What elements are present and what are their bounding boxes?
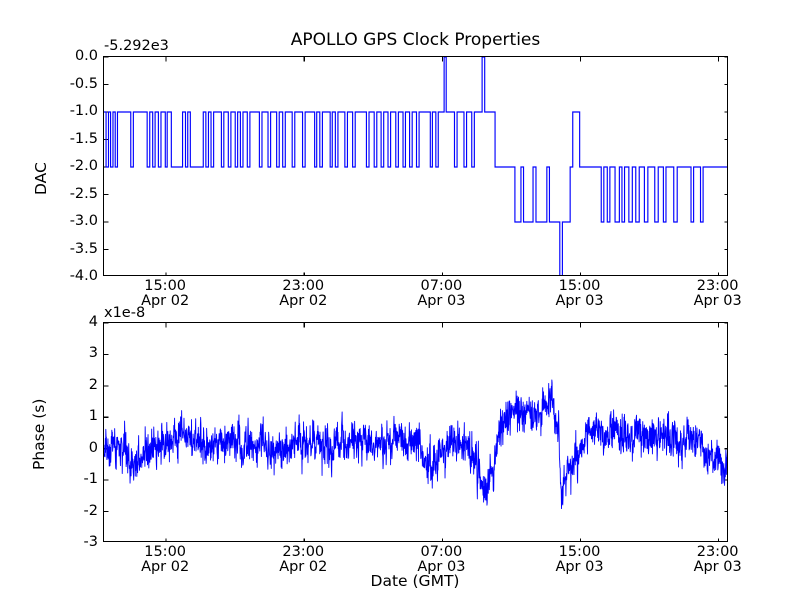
phase-xtick-time: 23:00 xyxy=(282,544,324,560)
dac-ytick-label: -1.5 xyxy=(40,131,98,147)
phase-ytick-label: -3 xyxy=(48,534,98,550)
phase-xtick-time: 07:00 xyxy=(420,544,462,560)
phase-xtick-date: Apr 02 xyxy=(279,559,327,575)
dac-ytick-label: -3.0 xyxy=(40,213,98,229)
dac-xtick-label: 23:00Apr 02 xyxy=(248,279,358,309)
phase-ytick-label: 4 xyxy=(48,314,98,330)
phase-ytick-label: 3 xyxy=(48,345,98,361)
dac-xtick-time: 15:00 xyxy=(559,278,601,294)
dac-ytick-label: -0.5 xyxy=(40,76,98,92)
dac-ytick-label: -3.5 xyxy=(40,241,98,257)
dac-xtick-date: Apr 03 xyxy=(694,293,742,309)
phase-xtick-time: 15:00 xyxy=(559,544,601,560)
dac-xtick-date: Apr 02 xyxy=(141,293,189,309)
phase-ytick-label: -1 xyxy=(48,471,98,487)
matplotlib-figure: APOLLO GPS Clock Properties -5.292e3 DAC… xyxy=(0,0,800,600)
phase-xtick-time: 23:00 xyxy=(697,544,739,560)
dac-step-trace xyxy=(104,57,728,276)
phase-xtick-label: 23:00Apr 03 xyxy=(663,545,773,575)
phase-xtick-date: Apr 03 xyxy=(555,559,603,575)
dac-xtick-date: Apr 03 xyxy=(555,293,603,309)
phase-noise-trace xyxy=(104,380,728,509)
dac-xtick-label: 07:00Apr 03 xyxy=(386,279,496,309)
dac-ytick-label: -2.5 xyxy=(40,186,98,202)
dac-xtick-label: 23:00Apr 03 xyxy=(663,279,773,309)
dac-xtick-time: 23:00 xyxy=(697,278,739,294)
phase-xtick-date: Apr 03 xyxy=(694,559,742,575)
phase-y-axis-label: Phase (s) xyxy=(30,399,48,470)
dac-trace-svg xyxy=(104,57,728,276)
figure-title: APOLLO GPS Clock Properties xyxy=(103,30,728,50)
phase-ytick-label: 2 xyxy=(48,377,98,393)
phase-ytick-label: 1 xyxy=(48,408,98,424)
dac-xtick-time: 15:00 xyxy=(144,278,186,294)
phase-xtick-label: 07:00Apr 03 xyxy=(386,545,496,575)
dac-ytick-label: -2.0 xyxy=(40,158,98,174)
dac-xtick-label: 15:00Apr 02 xyxy=(110,279,220,309)
phase-xtick-label: 15:00Apr 02 xyxy=(110,545,220,575)
phase-xtick-date: Apr 03 xyxy=(417,559,465,575)
phase-trace-svg xyxy=(104,323,728,542)
dac-plot-area[interactable] xyxy=(103,56,728,276)
dac-xtick-time: 07:00 xyxy=(420,278,462,294)
dac-xtick-date: Apr 02 xyxy=(279,293,327,309)
dac-xtick-date: Apr 03 xyxy=(417,293,465,309)
dac-ytick-label: -4.0 xyxy=(40,268,98,284)
dac-xtick-time: 23:00 xyxy=(282,278,324,294)
phase-xtick-label: 15:00Apr 03 xyxy=(525,545,635,575)
phase-xtick-time: 15:00 xyxy=(144,544,186,560)
phase-xtick-label: 23:00Apr 02 xyxy=(248,545,358,575)
phase-plot-area[interactable] xyxy=(103,322,728,542)
phase-ytick-label: 0 xyxy=(48,440,98,456)
phase-xtick-date: Apr 02 xyxy=(141,559,189,575)
dac-ytick-label: 0.0 xyxy=(40,48,98,64)
dac-xtick-label: 15:00Apr 03 xyxy=(525,279,635,309)
dac-ytick-label: -1.0 xyxy=(40,103,98,119)
phase-ytick-label: -2 xyxy=(48,503,98,519)
dac-y-offset-label: -5.292e3 xyxy=(104,38,169,54)
